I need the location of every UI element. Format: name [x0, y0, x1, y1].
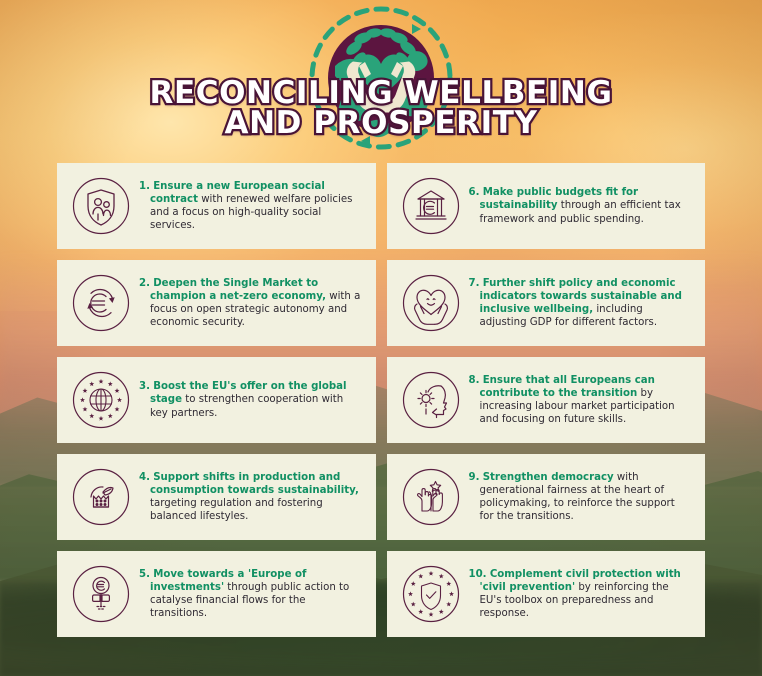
recommendation-card: 7. Further shift policy and economic ind… [387, 260, 706, 346]
recommendation-number: 7. [469, 278, 480, 289]
recommendation-text: 3. Boost the EU's offer on the global st… [146, 380, 364, 420]
recommendation-card: 8. Ensure that all Europeans can contrib… [387, 357, 706, 443]
shield-check-eu-stars-icon [397, 560, 465, 628]
hands-smiling-heart-icon [397, 269, 465, 337]
head-gear-skills-icon [397, 366, 465, 434]
recommendation-text: 1. Ensure a new European social contract… [146, 180, 364, 233]
recommendation-card: 3. Boost the EU's offer on the global st… [57, 357, 376, 443]
recommendation-number: 8. [469, 375, 480, 386]
recommendation-number: 3. [139, 381, 150, 392]
infographic-poster: RECONCILING WELLBEING AND PROSPERITY 1. … [0, 0, 762, 676]
recommendation-lead: Ensure that all Europeans can contribute… [480, 375, 655, 399]
euro-circular-arrows-icon [67, 269, 135, 337]
recommendation-card: 2. Deepen the Single Market to champion … [57, 260, 376, 346]
recommendation-text: 10. Complement civil protection with 'ci… [476, 568, 694, 621]
recommendation-detail: targeting regulation and fostering balan… [150, 498, 323, 522]
recommendation-text: 8. Ensure that all Europeans can contrib… [476, 374, 694, 427]
recommendation-text: 6. Make public budgets fit for sustainab… [476, 186, 694, 226]
recommendation-card: 10. Complement civil protection with 'ci… [387, 551, 706, 637]
recommendation-text: 2. Deepen the Single Market to champion … [146, 277, 364, 330]
recommendation-lead: Further shift policy and economic indica… [480, 278, 682, 315]
recommendation-card: 4. Support shifts in production and cons… [57, 454, 376, 540]
raised-hands-star-icon [397, 463, 465, 531]
recommendation-text: 9. Strengthen democracy with generationa… [476, 471, 694, 524]
apple-factory-icon [67, 463, 135, 531]
recommendation-card: 5. Move towards a 'Europe of investments… [57, 551, 376, 637]
recommendation-number: 10. [469, 569, 487, 580]
recommendation-lead: Deepen the Single Market to champion a n… [150, 278, 326, 302]
recommendation-card: 1. Ensure a new European social contract… [57, 163, 376, 249]
recommendation-number: 1. [139, 181, 150, 192]
recommendation-card: 9. Strengthen democracy with generationa… [387, 454, 706, 540]
recommendation-number: 6. [469, 187, 480, 198]
recommendation-lead: Support shifts in production and consump… [150, 472, 359, 496]
recommendation-text: 7. Further shift policy and economic ind… [476, 277, 694, 330]
recommendation-lead: Strengthen democracy [483, 472, 614, 483]
recommendations-grid: 1. Ensure a new European social contract… [57, 163, 705, 637]
recommendation-card: 6. Make public budgets fit for sustainab… [387, 163, 706, 249]
recommendation-number: 2. [139, 278, 150, 289]
euro-flower-growth-icon [67, 560, 135, 628]
shield-people-icon [67, 172, 135, 240]
globe-eu-stars-icon [67, 366, 135, 434]
recommendation-text: 5. Move towards a 'Europe of investments… [146, 568, 364, 621]
recommendation-text: 4. Support shifts in production and cons… [146, 471, 364, 524]
recommendation-number: 5. [139, 569, 150, 580]
globe-hands-heart-emblem [307, 4, 455, 152]
recommendation-number: 4. [139, 472, 150, 483]
poster-header: RECONCILING WELLBEING AND PROSPERITY [0, 0, 762, 162]
bank-euro-icon [397, 172, 465, 240]
recommendation-number: 9. [469, 472, 480, 483]
